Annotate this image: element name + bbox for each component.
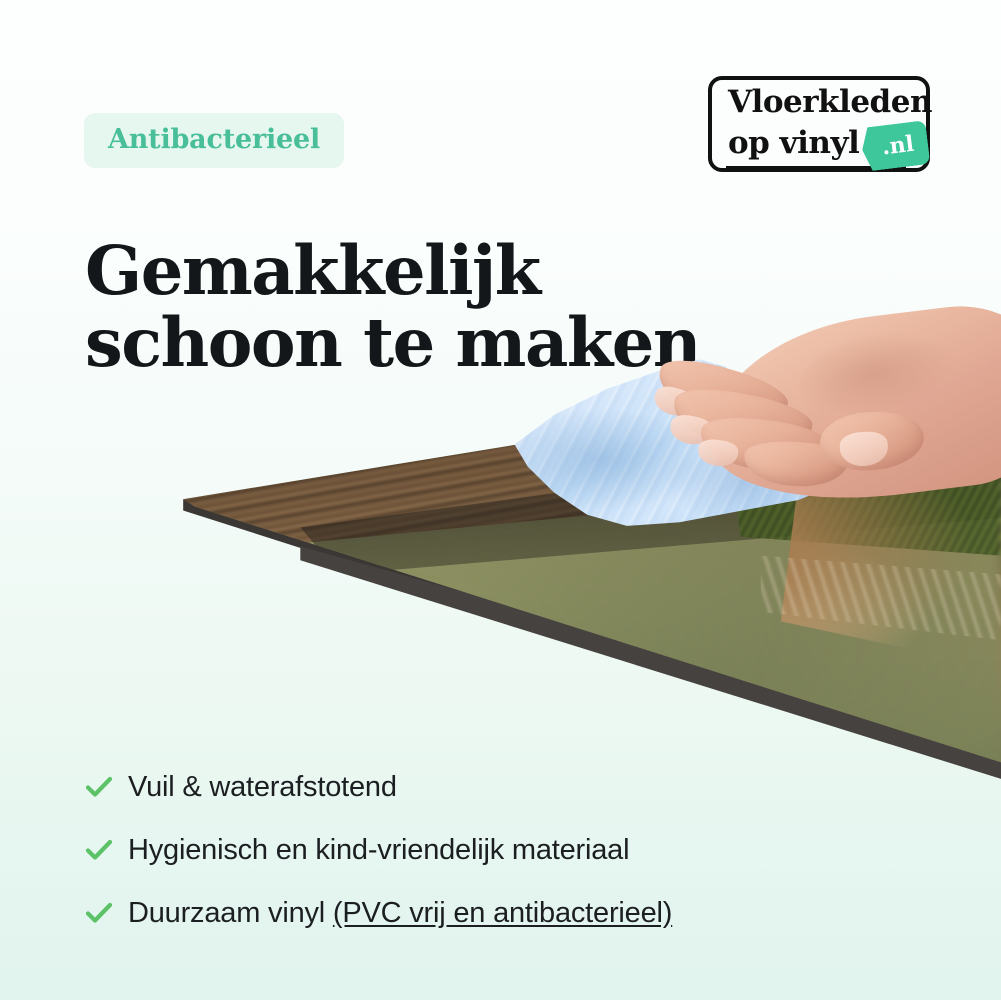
logo-tld-tag: .nl (860, 120, 931, 172)
feature-text-2: Hygienisch en kind-vriendelijk materiaal (128, 833, 629, 867)
feature-text-3: Duurzaam vinyl (PVC vrij en antibacterie… (128, 896, 672, 930)
check-icon (84, 772, 114, 802)
list-item: Vuil & waterafstotend (84, 755, 864, 818)
antibacterial-badge: Antibacterieel (84, 113, 344, 168)
list-item: Hygienisch en kind-vriendelijk materiaal (84, 818, 864, 881)
logo-tld-label: .nl (860, 120, 931, 172)
promo-banner: Vloerkleden op vinyl .nl Antibacterieel … (0, 0, 1001, 1000)
feature-link-pvc[interactable]: (PVC vrij en antibacterieel) (333, 897, 672, 929)
logo-line-2: op vinyl (728, 123, 859, 164)
list-item: Duurzaam vinyl (PVC vrij en antibacterie… (84, 881, 864, 944)
hand (648, 316, 1001, 566)
feature-list: Vuil & waterafstotend Hygienisch en kind… (84, 755, 864, 944)
headline-line-1: Gemakkelijk (85, 235, 700, 307)
logo-line-1: Vloerkleden (728, 82, 932, 123)
feature-text-1: Vuil & waterafstotend (128, 770, 397, 804)
check-icon (84, 898, 114, 928)
check-icon (84, 835, 114, 865)
